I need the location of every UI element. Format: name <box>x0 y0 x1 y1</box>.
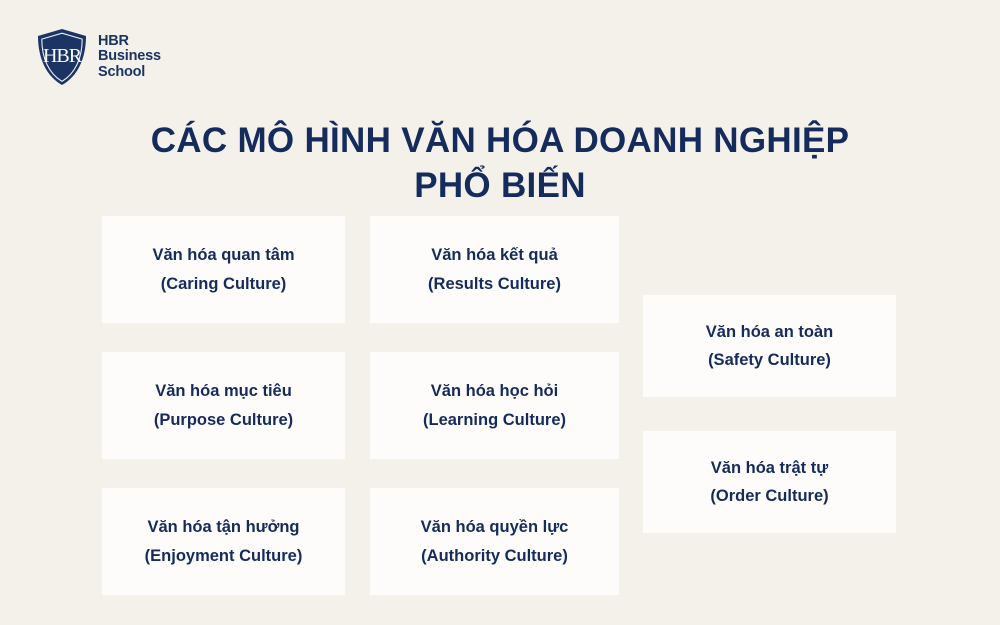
culture-card-title-vi: Văn hóa an toàn <box>706 318 833 346</box>
page-title: CÁC MÔ HÌNH VĂN HÓA DOANH NGHIỆP PHỔ BIẾ… <box>0 119 1000 209</box>
page-title-line-1: CÁC MÔ HÌNH VĂN HÓA DOANH NGHIỆP <box>70 119 930 164</box>
culture-card-safety: Văn hóa an toàn (Safety Culture) <box>643 295 896 397</box>
culture-card-title-vi: Văn hóa học hỏi <box>431 377 558 405</box>
page-title-line-2: PHỔ BIẾN <box>70 164 930 209</box>
culture-card-title-vi: Văn hóa tận hưởng <box>147 513 299 541</box>
culture-card-learning: Văn hóa học hỏi (Learning Culture) <box>370 352 619 459</box>
culture-card-title-vi: Văn hóa trật tự <box>711 454 828 482</box>
culture-card-enjoyment: Văn hóa tận hưởng (Enjoyment Culture) <box>102 488 345 595</box>
culture-card-title-vi: Văn hóa quyền lực <box>421 513 569 541</box>
culture-card-title-en: (Purpose Culture) <box>154 406 293 434</box>
brand-line-1: HBR <box>98 34 161 50</box>
culture-card-title-en: (Order Culture) <box>710 482 828 510</box>
shield-hbr-monogram-icon: HBR <box>36 28 88 86</box>
culture-card-title-en: (Authority Culture) <box>421 542 568 570</box>
culture-card-order: Văn hóa trật tự (Order Culture) <box>643 431 896 533</box>
brand-logo: HBR HBR Business School <box>36 28 161 86</box>
culture-card-title-en: (Caring Culture) <box>161 270 287 298</box>
brand-line-3: School <box>98 65 161 81</box>
culture-card-title-en: (Safety Culture) <box>708 346 831 374</box>
culture-card-title-vi: Văn hóa quan tâm <box>152 241 294 269</box>
culture-card-results: Văn hóa kết quả (Results Culture) <box>370 216 619 323</box>
culture-card-title-en: (Results Culture) <box>428 270 561 298</box>
culture-card-title-en: (Enjoyment Culture) <box>145 542 303 570</box>
brand-line-2: Business <box>98 49 161 65</box>
brand-name: HBR Business School <box>98 34 161 81</box>
culture-card-title-vi: Văn hóa mục tiêu <box>155 377 292 405</box>
svg-text:HBR: HBR <box>43 45 83 67</box>
culture-card-title-vi: Văn hóa kết quả <box>431 241 558 269</box>
culture-card-caring: Văn hóa quan tâm (Caring Culture) <box>102 216 345 323</box>
culture-card-purpose: Văn hóa mục tiêu (Purpose Culture) <box>102 352 345 459</box>
culture-card-title-en: (Learning Culture) <box>423 406 566 434</box>
culture-card-authority: Văn hóa quyền lực (Authority Culture) <box>370 488 619 595</box>
